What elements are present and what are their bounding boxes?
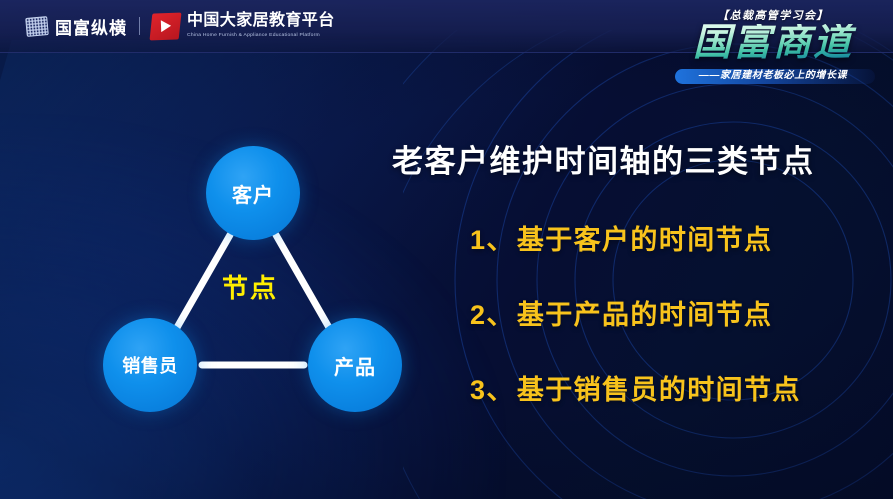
list-item: 2、 基于产品的时间节点 (470, 293, 870, 332)
brand-secondary-lockup: 中国大家居教育平台 China Home Furnish & Appliance… (151, 13, 335, 40)
list-item-label: 基于客户的时间节点 (517, 218, 773, 257)
presentation-slide: 国富纵横 中国大家居教育平台 China Home Furnish & Appl… (0, 0, 893, 499)
brand-secondary-name-cn: 中国大家居教育平台 (187, 13, 335, 30)
brand-secondary-name-en: China Home Furnish & Appliance Education… (187, 32, 329, 38)
list-item: 3、 基于销售员的时间节点 (470, 368, 870, 407)
list-item-number: 2、 (470, 293, 515, 332)
brand-divider (139, 17, 140, 35)
list-item-number: 1、 (470, 218, 515, 257)
program-branding: 【总裁高管学习会】 国富商道 ——家居建材老板必上的增长课 (667, 2, 879, 98)
diagram-node-customer-label: 客户 (232, 179, 274, 208)
points-list: 1、 基于客户的时间节点 2、 基于产品的时间节点 3、 基于销售员的时间节点 (470, 218, 870, 443)
brand-primary-name: 国富纵横 (55, 14, 127, 39)
qr-code-icon (25, 16, 49, 37)
diagram-node-sales-label: 销售员 (122, 352, 178, 378)
diagram-node-product-label: 产品 (334, 351, 376, 380)
program-subtitle-wrap: ——家居建材老板必上的增长课 (667, 67, 879, 85)
brand-lockup: 国富纵横 中国大家居教育平台 China Home Furnish & Appl… (26, 9, 335, 43)
program-subtitle: ——家居建材老板必上的增长课 (667, 67, 879, 85)
program-kicker: 【总裁高管学习会】 (667, 7, 879, 23)
list-item-number: 3、 (470, 368, 515, 407)
list-item-label: 基于销售员的时间节点 (517, 368, 801, 407)
diagram-node-customer[interactable]: 客户 (206, 146, 300, 240)
diagram-center-label: 节点 (80, 268, 420, 305)
list-item-label: 基于产品的时间节点 (517, 293, 773, 332)
page-title: 老客户维护时间轴的三类节点 (392, 136, 815, 181)
program-title: 国富商道 (667, 24, 879, 64)
diagram-node-sales[interactable]: 销售员 (103, 318, 197, 412)
play-button-icon (150, 12, 182, 40)
diagram-node-product[interactable]: 产品 (308, 318, 402, 412)
node-triangle-diagram: 客户 销售员 产品 节点 (80, 135, 420, 425)
list-item: 1、 基于客户的时间节点 (470, 218, 870, 257)
